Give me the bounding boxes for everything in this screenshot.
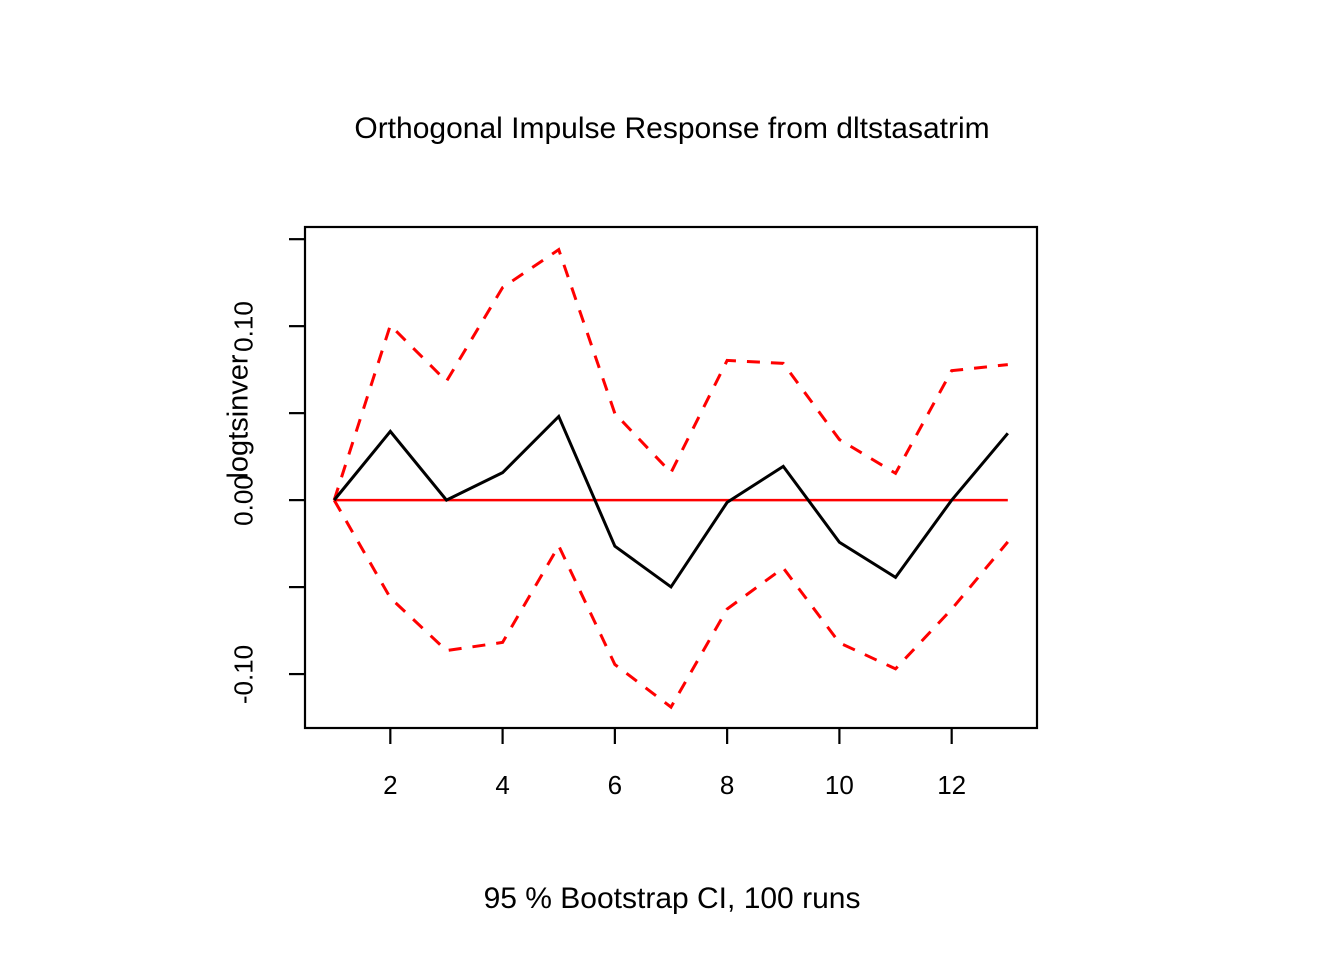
y-tick-label: -0.10 [229,630,260,720]
series-layer [334,250,1008,708]
plot-frame [305,227,1037,728]
x-tick-label: 12 [922,770,982,801]
x-tick-label: 6 [585,770,645,801]
y-tick-label: 0.00 [229,456,260,546]
x-tick-label: 2 [360,770,420,801]
x-axis-ticks [390,728,951,744]
series-line-upper-bound [334,250,1008,501]
series-line-lower-bound [334,500,1008,707]
chart-figure: Orthogonal Impulse Response from dltstas… [0,0,1344,960]
x-tick-label: 10 [809,770,869,801]
x-tick-label: 8 [697,770,757,801]
y-tick-label: 0.10 [229,282,260,372]
chart-title: Orthogonal Impulse Response from dltstas… [0,112,1344,146]
series-line-point-estimate [334,416,1008,586]
y-axis-ticks [289,239,305,674]
x-tick-label: 4 [473,770,533,801]
chart-caption: 95 % Bootstrap CI, 100 runs [0,882,1344,916]
